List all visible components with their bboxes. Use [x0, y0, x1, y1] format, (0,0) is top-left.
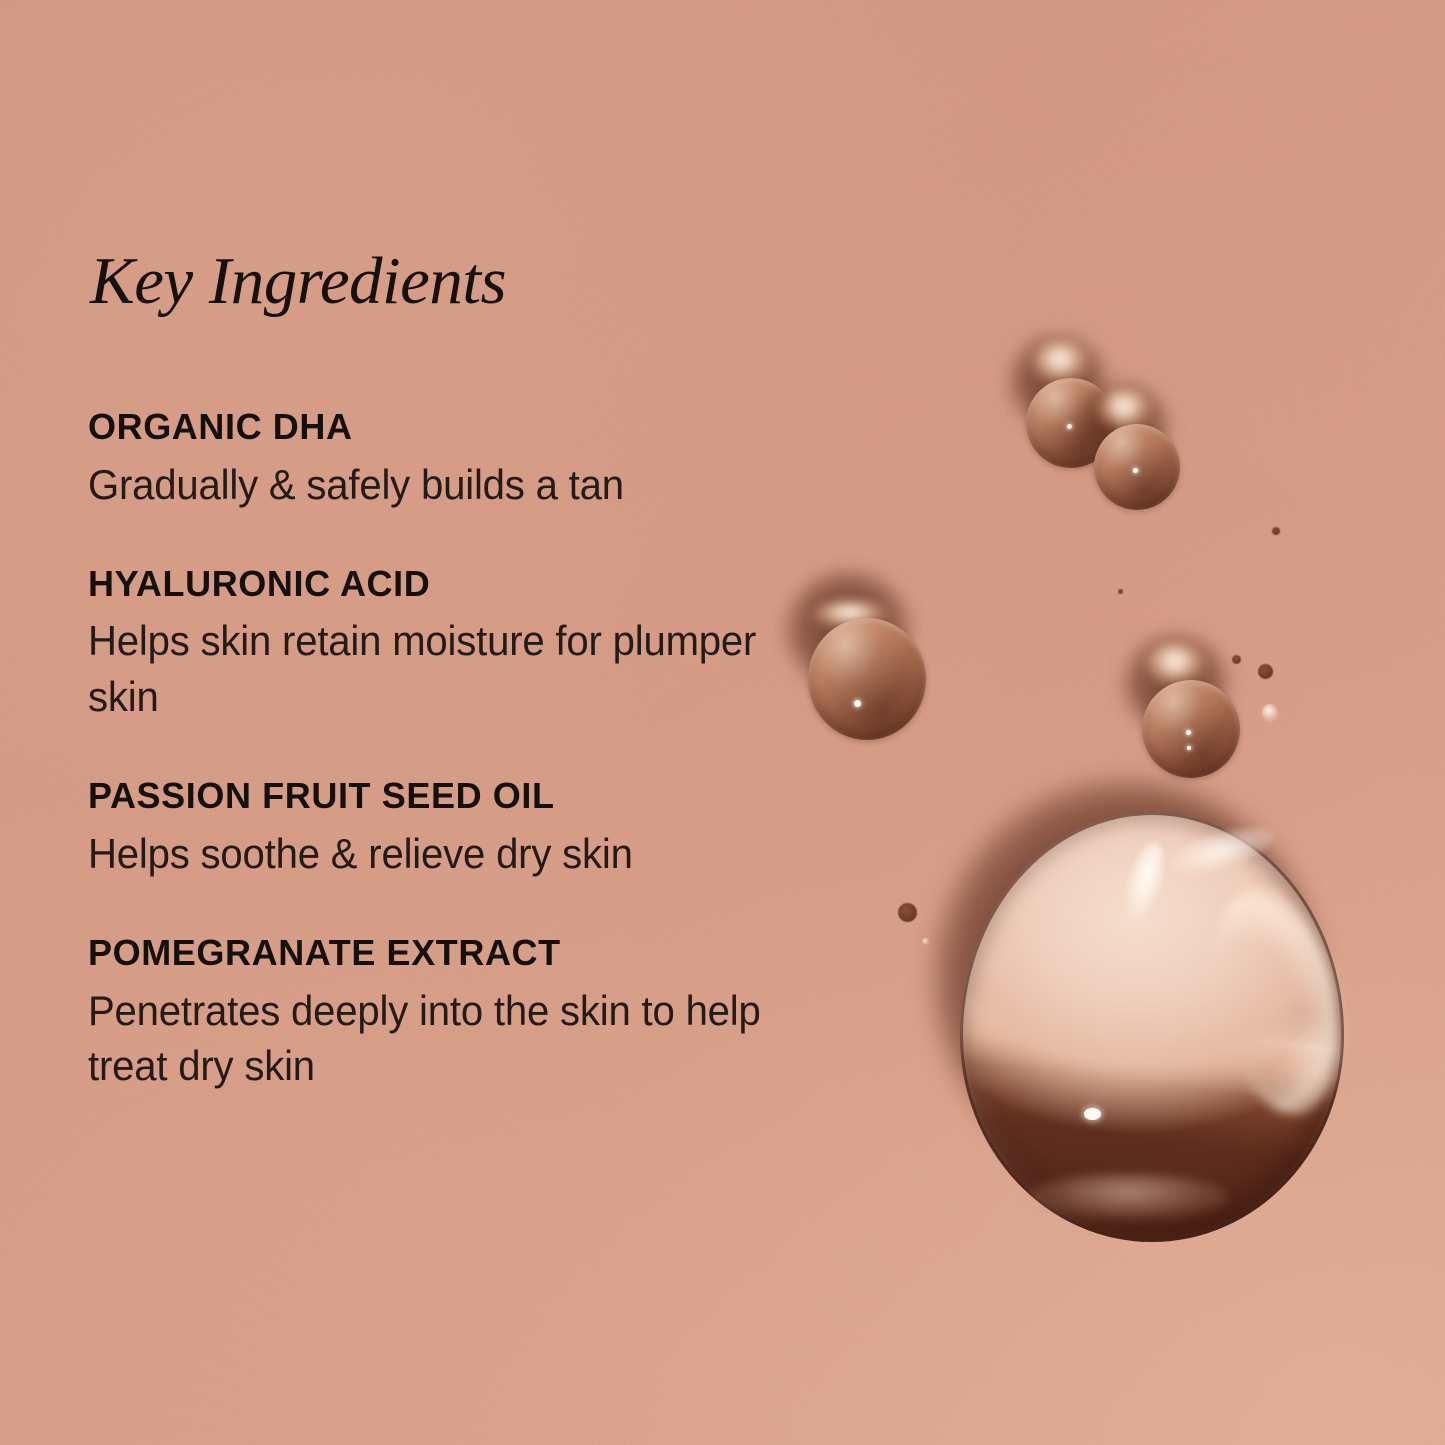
- ingredient-description: Helps soothe & relieve dry skin: [88, 826, 814, 882]
- droplet-crest-highlight: [1030, 340, 1092, 386]
- droplet-hero-underglow: [1028, 1174, 1228, 1220]
- droplet-small-upper-right: [1078, 384, 1228, 534]
- ingredient-description: Penetrates deeply into the skin to help …: [88, 983, 814, 1095]
- ingredient-list: ORGANIC DHA Gradually & safely builds a …: [88, 404, 878, 1094]
- droplet-shadow: [1078, 384, 1168, 470]
- page-title: Key Ingredients: [90, 248, 506, 315]
- droplet-specular-dot: [1133, 468, 1138, 473]
- droplet-hero-rim: [960, 812, 1344, 1242]
- droplet-hero-shadow: [936, 782, 1314, 1174]
- ingredient-name: PASSION FRUIT SEED OIL: [88, 773, 878, 820]
- droplet-specular-dot-secondary: [1187, 746, 1191, 750]
- droplet-hero-crescent-highlight: [1195, 876, 1358, 1126]
- droplet-small-upper-left: [1010, 336, 1160, 486]
- droplet-hero-specular-dot: [1084, 1108, 1101, 1120]
- ingredient-name: HYALURONIC ACID: [88, 561, 878, 608]
- droplet-specular-dot: [1186, 730, 1191, 735]
- droplet-crest-highlight: [1144, 642, 1208, 688]
- ingredient-description: Helps skin retain moisture for plumper s…: [88, 613, 814, 725]
- droplet-fleck-pale: [1262, 704, 1278, 722]
- ingredient-name: ORGANIC DHA: [88, 404, 878, 451]
- ingredient-item-hyaluronic-acid: HYALURONIC ACID Helps skin retain moistu…: [88, 561, 878, 726]
- droplet-shadow: [1124, 636, 1228, 732]
- droplet-specular-dot: [1067, 424, 1072, 429]
- droplet-hero-gloss-band: [1165, 818, 1279, 882]
- droplet-bead: [1026, 378, 1116, 468]
- droplet-bead: [1094, 424, 1180, 510]
- droplet-fleck: [1232, 655, 1241, 664]
- ingredient-item-passion-fruit-seed-oil: PASSION FRUIT SEED OIL Helps soothe & re…: [88, 773, 878, 882]
- ingredient-name: POMEGRANATE EXTRACT: [88, 930, 878, 977]
- ingredient-item-pomegranate-extract: POMEGRANATE EXTRACT Penetrates deeply in…: [88, 930, 878, 1095]
- droplet-crest-highlight: [1096, 388, 1154, 432]
- droplet-hero-body: [960, 812, 1344, 1242]
- droplet-bead: [1142, 680, 1240, 778]
- droplet-medium-right: [1124, 636, 1294, 806]
- droplet-shadow: [1010, 336, 1106, 428]
- droplet-fleck: [1272, 527, 1280, 535]
- droplet-fleck-pale: [922, 938, 929, 945]
- product-ingredients-panel: Key Ingredients ORGANIC DHA Gradually & …: [0, 0, 1445, 1445]
- droplet-fleck: [1118, 589, 1123, 594]
- droplet-fleck: [898, 903, 917, 922]
- droplet-fleck: [1258, 664, 1273, 679]
- ingredient-item-organic-dha: ORGANIC DHA Gradually & safely builds a …: [88, 404, 878, 513]
- droplet-hero-large: [932, 778, 1362, 1258]
- ingredient-description: Gradually & safely builds a tan: [88, 457, 814, 513]
- droplet-hero-gloss-streak: [1118, 839, 1172, 923]
